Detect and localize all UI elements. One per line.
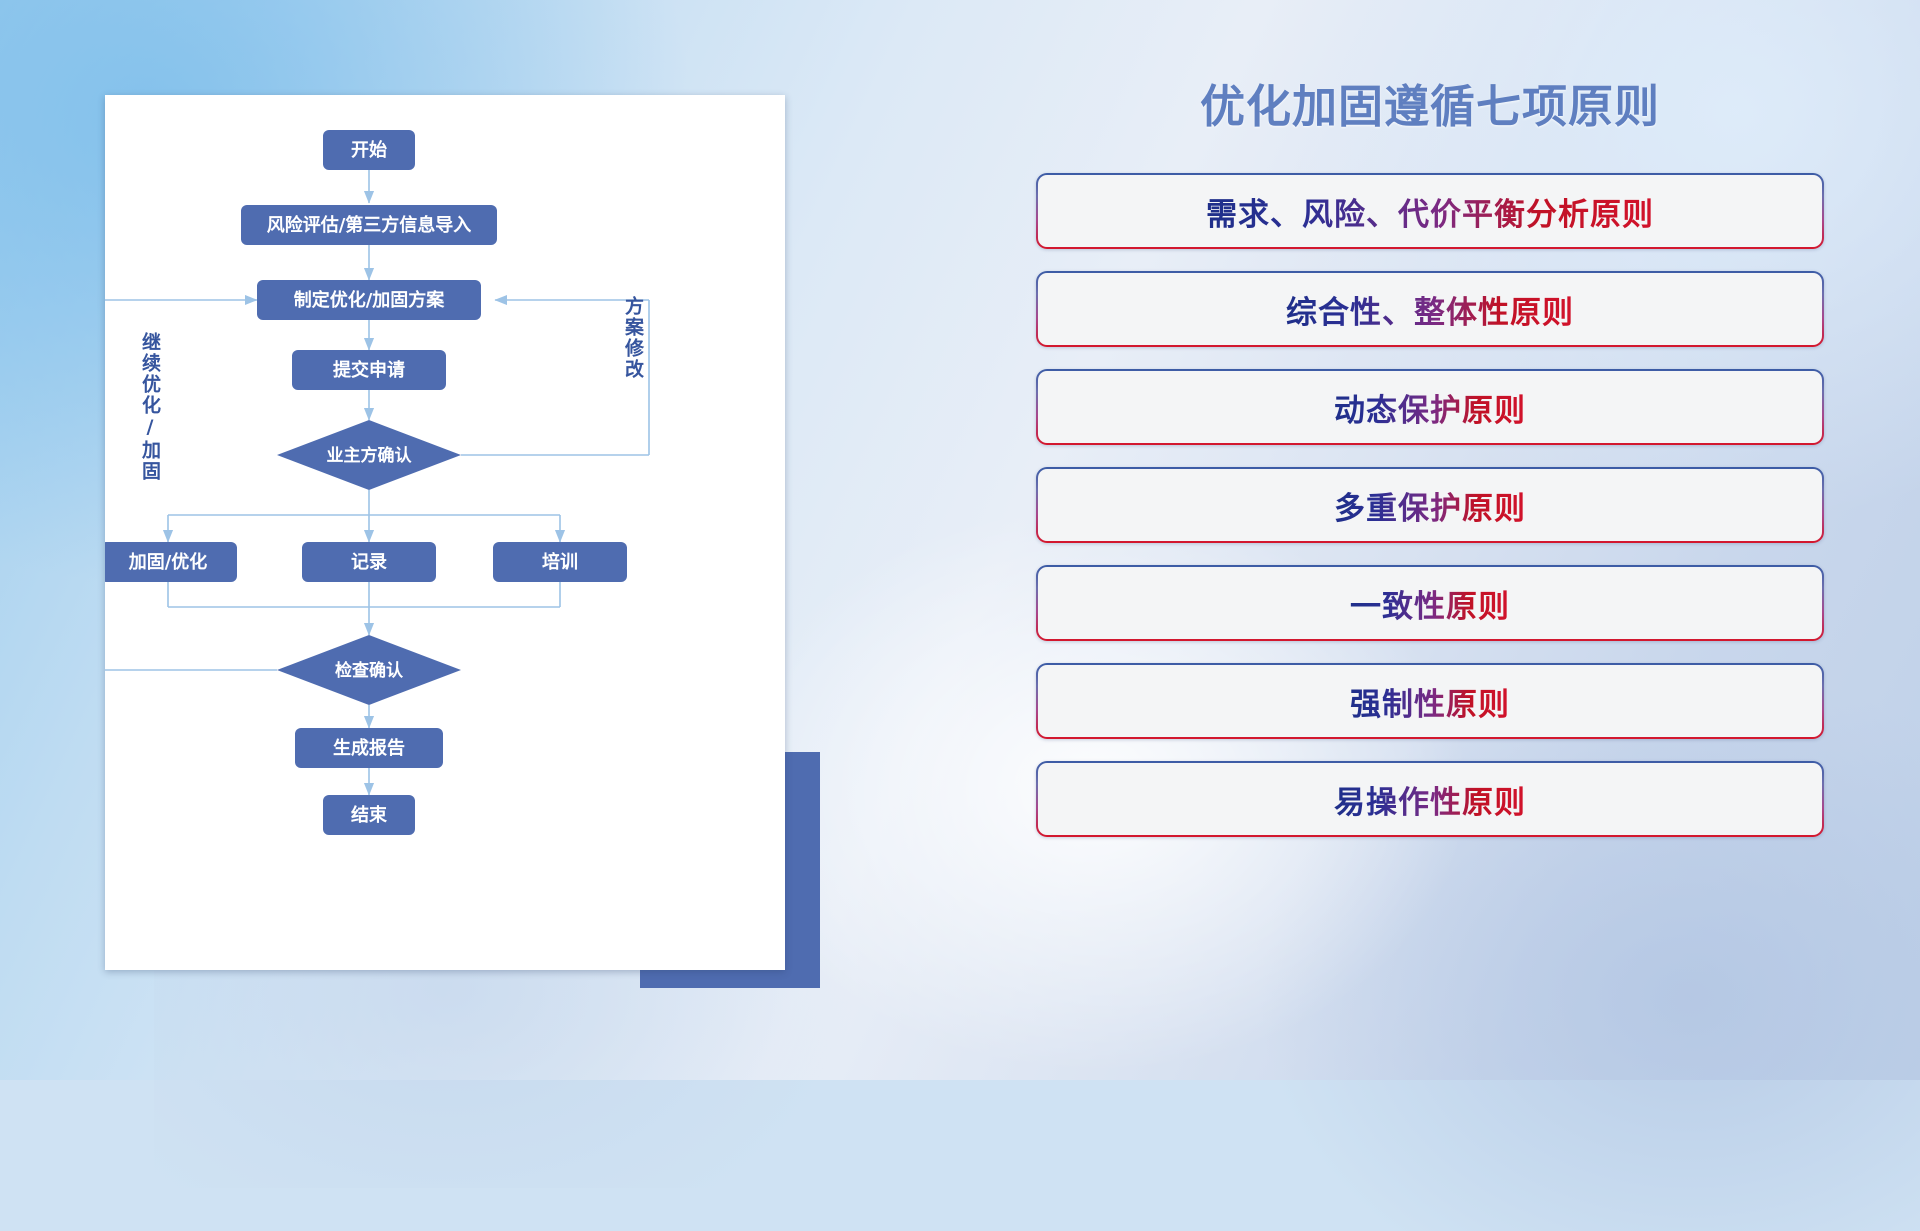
principle-card-inner: 多重保护原则 [1038,469,1822,541]
flow-node-training-label: 培训 [542,551,578,573]
flow-node-end[interactable]: 结束 [323,795,415,835]
flow-node-check-confirm[interactable]: 检查确认 [277,635,461,705]
principle-label: 动态保护原则 [1334,385,1526,430]
flow-node-start-label: 开始 [351,139,387,161]
flow-node-generate-report[interactable]: 生成报告 [295,728,443,768]
flow-node-risk-assessment-label: 风险评估/第三方信息导入 [267,214,472,236]
principle-card-inner: 需求、风险、代价平衡分析原则 [1038,175,1822,247]
principle-card[interactable]: 需求、风险、代价平衡分析原则 [1036,173,1824,249]
flow-node-record-label: 记录 [351,552,387,573]
flow-node-record[interactable]: 记录 [302,542,436,582]
principles-section: 优化加固遵循七项原则 需求、风险、代价平衡分析原则 综合性、整体性原则 动态保护… [1020,70,1840,1030]
flow-node-generate-report-label: 生成报告 [333,737,405,759]
principle-card-inner: 综合性、整体性原则 [1038,273,1822,345]
flow-node-end-label: 结束 [351,804,388,826]
flow-node-owner-confirm-label: 业主方确认 [327,445,413,466]
principle-label: 需求、风险、代价平衡分析原则 [1206,189,1654,234]
flow-node-owner-confirm[interactable]: 业主方确认 [277,420,461,490]
principle-label: 一致性原则 [1350,581,1510,626]
principle-card-inner: 强制性原则 [1038,665,1822,737]
flow-node-reinforce-label: 加固/优化 [128,551,208,573]
principle-card-inner: 一致性原则 [1038,567,1822,639]
principle-card[interactable]: 一致性原则 [1036,565,1824,641]
principle-label: 综合性、整体性原则 [1286,287,1574,332]
principle-card[interactable]: 易操作性原则 [1036,761,1824,837]
flow-node-check-confirm-label: 检查确认 [335,660,404,681]
principles-title: 优化加固遵循七项原则 [1020,70,1840,135]
principle-card[interactable]: 多重保护原则 [1036,467,1824,543]
principle-card[interactable]: 综合性、整体性原则 [1036,271,1824,347]
principle-card[interactable]: 强制性原则 [1036,663,1824,739]
flow-edge-label-left-loop: 继续优化/加固 [139,331,162,482]
flow-node-start[interactable]: 开始 [323,130,415,170]
flowchart-diagram: 开始 风险评估/第三方信息导入 制定优化/加固方案 提交申请 业主方确认 加固/… [105,95,785,970]
principle-label: 多重保护原则 [1334,483,1526,528]
flow-node-reinforce[interactable]: 加固/优化 [105,542,237,582]
principle-card-inner: 动态保护原则 [1038,371,1822,443]
flow-node-submit-application[interactable]: 提交申请 [292,350,446,390]
flow-node-submit-application-label: 提交申请 [333,359,405,381]
principle-label: 易操作性原则 [1334,777,1526,822]
flow-node-risk-assessment[interactable]: 风险评估/第三方信息导入 [241,205,497,245]
principle-label: 强制性原则 [1350,679,1510,724]
flow-edge-label-right-loop: 方案修改 [622,295,645,380]
flowchart-panel: 开始 风险评估/第三方信息导入 制定优化/加固方案 提交申请 业主方确认 加固/… [105,95,785,970]
flow-node-make-plan-label: 制定优化/加固方案 [294,289,446,311]
principle-card-inner: 易操作性原则 [1038,763,1822,835]
principle-card[interactable]: 动态保护原则 [1036,369,1824,445]
flow-node-training[interactable]: 培训 [493,542,627,582]
flow-node-make-plan[interactable]: 制定优化/加固方案 [257,280,481,320]
